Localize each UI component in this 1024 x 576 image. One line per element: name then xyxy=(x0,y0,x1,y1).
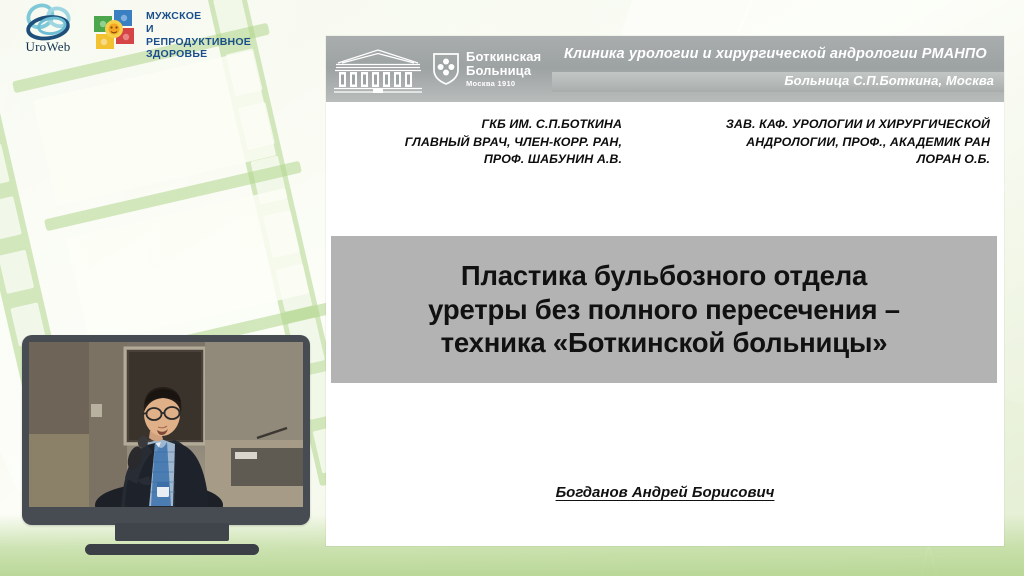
hospital-city-line: Больница С.П.Боткина, Москва xyxy=(564,73,994,88)
film-hole xyxy=(263,210,299,258)
film-hole xyxy=(0,249,35,294)
film-frame-pane xyxy=(66,188,310,344)
credit-chief-physician: ГКБ ИМ. С.П.БОТКИНА ГЛАВНЫЙ ВРАЧ, ЧЛЕН-К… xyxy=(332,116,700,184)
hospital-name-line-2: Больница xyxy=(466,64,541,78)
hospital-founded-label: Москва 1910 xyxy=(466,79,541,88)
congress-title-line-2: И РЕПРОДУКТИВНОЕ xyxy=(146,23,251,49)
monitor-stand-neck xyxy=(115,523,229,541)
film-hole xyxy=(238,102,274,150)
shield-and-name: Боткинская Больница Москва 1910 xyxy=(432,50,541,89)
hospital-name-line-1: Боткинская xyxy=(466,50,541,64)
film-hole xyxy=(251,156,287,204)
speaker-video-monitor[interactable] xyxy=(22,335,310,525)
uroweb-logo: UroWeb xyxy=(12,3,84,55)
congress-title: МУЖСКОЕ И РЕПРОДУКТИВНОЕ ЗДОРОВЬЕ xyxy=(146,10,251,61)
credit-department-head: ЗАВ. КАФ. УРОЛОГИИ И ХИРУРГИЧЕСКОЙ АНДРО… xyxy=(700,116,998,184)
congress-title-line-1: МУЖСКОЕ xyxy=(146,10,251,23)
congress-puzzle-logo xyxy=(90,6,142,52)
speaker-name: Богданов Андрей Борисович xyxy=(326,484,1004,501)
clinic-line: Клиника урологии и хирургической андроло… xyxy=(564,46,996,62)
presenter-video-frame xyxy=(29,342,303,507)
slide-header: Боткинская Больница Москва 1910 Клиника … xyxy=(326,36,1004,102)
shield-cross-icon xyxy=(432,52,460,86)
slide-title: Пластика бульбозного отдела уретры без п… xyxy=(414,259,914,360)
film-hole xyxy=(276,264,312,312)
presentation-screenshot: UroWeb МУЖСКОЕ И РЕПРОДУКТИВНОЕ xyxy=(0,0,1024,576)
uroweb-swirl-icon xyxy=(12,3,84,43)
hospital-name-block: Боткинская Больница Москва 1910 xyxy=(466,50,541,89)
puzzle-sun-icon xyxy=(90,6,142,52)
uroweb-wordmark: UroWeb xyxy=(12,39,84,55)
film-frame-pane xyxy=(33,50,277,206)
film-frame-divider-mid xyxy=(44,161,302,232)
film-hole xyxy=(0,196,22,241)
monitor-stand-base xyxy=(85,544,259,555)
film-hole xyxy=(0,143,10,188)
slide-title-band: Пластика бульбозного отдела уретры без п… xyxy=(331,236,997,383)
slide: Боткинская Больница Москва 1910 Клиника … xyxy=(326,36,1004,546)
hospital-logo: Боткинская Больница Москва 1910 xyxy=(326,36,564,102)
header-text-block: Клиника урологии и хирургической андроло… xyxy=(564,36,1004,102)
credits-row: ГКБ ИМ. С.П.БОТКИНА ГЛАВНЫЙ ВРАЧ, ЧЛЕН-К… xyxy=(326,102,1004,184)
video-screen[interactable] xyxy=(29,342,303,507)
hospital-building-icon xyxy=(332,45,424,93)
congress-title-line-3: ЗДОРОВЬЕ xyxy=(146,48,251,61)
